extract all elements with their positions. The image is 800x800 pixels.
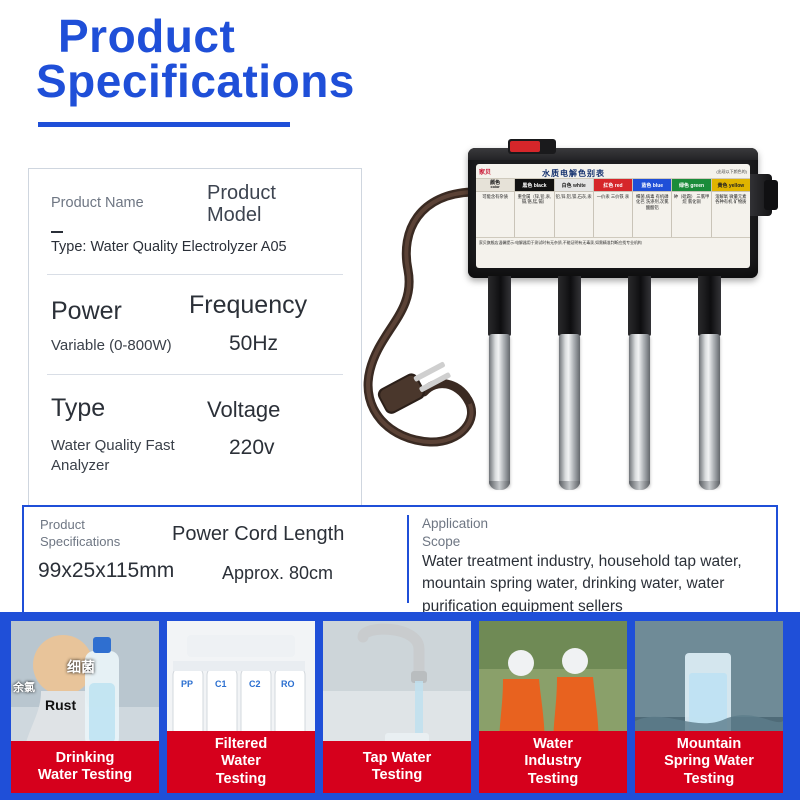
color-col-white: 白色 white 铅,锌,铝,镁,石灰,汞 — [555, 179, 594, 237]
caption-filtered-line1: Filtered — [215, 736, 267, 753]
caption-filtered-line2: Water — [215, 753, 267, 770]
page-title-line1: Product — [58, 14, 478, 59]
device-illustration: 家贝 水质电解色别表 (出现以下颜色的) 颜色 color 可能含有杂质 黑色 … — [360, 120, 790, 520]
color-col-red-header: 红色 red — [594, 179, 632, 192]
frequency-label: Frequency — [189, 291, 307, 320]
brand-label: 家贝 — [479, 167, 491, 176]
scenario-card-water-industry[interactable]: Water Industry Testing — [478, 620, 628, 794]
caption-drinking-line2: Water Testing — [38, 767, 132, 784]
power-label: Power — [51, 297, 122, 326]
type-description-line2: Analyzer — [51, 456, 191, 476]
probe-2-holder — [558, 276, 581, 336]
color-col-yellow-body: 溶解氧 微量元素 各种有机 矿物质 — [712, 192, 750, 207]
caption-tap-line2: Testing — [363, 767, 431, 784]
color-col-yellow-header: 黄色 yellow — [712, 179, 750, 192]
color-col-red: 红色 red 一价汞 三价铁 汞 — [594, 179, 633, 237]
power-cord-length-value: Approx. 80cm — [222, 563, 333, 584]
power-value: Variable (0-800W) — [51, 337, 172, 354]
scenario-caption-tap-water: Tap Water Testing — [323, 741, 471, 793]
probe-1-holder — [488, 276, 511, 336]
product-model-label-line1: Product — [207, 183, 276, 205]
specifications-card: Product Name Product Model Type: Water Q… — [28, 168, 362, 506]
scenario-caption-drinking-water: Drinking Water Testing — [11, 741, 159, 793]
product-spec-page: Product Specifications Product Name Prod… — [0, 0, 800, 800]
color-col-white-body: 铅,锌,铝,镁,石灰,汞 — [555, 192, 593, 201]
color-col-black-header: 黑色 black — [515, 179, 553, 192]
probe-4-holder — [698, 276, 721, 336]
voltage-label: Voltage — [207, 397, 280, 423]
usage-scenarios-strip: 细菌 Rust 余氯 Drinking Water Testing — [0, 612, 800, 800]
color-col-red-body: 一价汞 三价铁 汞 — [594, 192, 632, 201]
product-specifications-value: 99x25x115mm — [38, 559, 174, 583]
color-col-blue: 蓝色 blue 细菌,病毒 有机磷化巴 洗涤剂,次氯 酸酸铝 — [633, 179, 672, 237]
lower-card-divider — [407, 515, 409, 603]
probe-3-rod — [629, 334, 650, 486]
caption-tap-line1: Tap Water — [363, 750, 431, 767]
type-description-line1: Water Quality Fast — [51, 436, 191, 456]
color-col-green: 绿色 green 砷（砒霜） 三氯甲烷 氯化铜 — [672, 179, 711, 237]
color-table-col-header: 颜色 color 可能含有杂质 — [476, 179, 515, 237]
overlay-text-rust: Rust — [45, 697, 76, 713]
color-head-en: color — [490, 186, 499, 190]
voltage-value: 220v — [229, 436, 275, 460]
application-scope-label-line2: Scope — [422, 533, 488, 551]
product-model-label-line2: Model — [207, 205, 276, 227]
color-table: 颜色 color 可能含有杂质 黑色 black 重金属（锌,铅,汞,镉,铬,锰… — [476, 179, 750, 237]
overlay-text-bacteria: 细菌 — [67, 657, 95, 677]
color-column-head: 颜色 color — [476, 179, 514, 192]
spec-divider-2 — [47, 374, 343, 375]
page-title: Product Specifications — [58, 14, 478, 104]
application-scope-label-line1: Application — [422, 515, 488, 533]
type-label: Type — [51, 394, 105, 423]
color-col-green-body: 砷（砒霜） 三氯甲烷 氯化铜 — [672, 192, 710, 207]
overlay-text-ro: RO — [281, 679, 295, 689]
probe-2-rod — [559, 334, 580, 486]
probe-1-rod — [489, 334, 510, 486]
scenario-card-tap-water[interactable]: Tap Water Testing — [322, 620, 472, 794]
probe-3-holder — [628, 276, 651, 336]
frequency-value: 50Hz — [229, 332, 278, 356]
color-col-blue-header: 蓝色 blue — [633, 179, 671, 192]
device-label-panel: 家贝 水质电解色别表 (出现以下颜色的) 颜色 color 可能含有杂质 黑色 … — [476, 164, 750, 268]
scenario-card-drinking-water[interactable]: 细菌 Rust 余氯 Drinking Water Testing — [10, 620, 160, 794]
color-col-yellow: 黄色 yellow 溶解氧 微量元素 各种有机 矿物质 — [712, 179, 750, 237]
type-description: Water Quality Fast Analyzer — [51, 436, 191, 477]
title-underline — [38, 122, 290, 127]
panel-note: (出现以下颜色的) — [716, 169, 747, 175]
caption-mountain-line3: Testing — [664, 771, 754, 788]
product-name-label: Product Name — [51, 195, 144, 211]
power-switch-red-rocker[interactable] — [510, 141, 540, 152]
application-scope-value: Water treatment industry, household tap … — [422, 551, 774, 618]
overlay-text-c1: C1 — [215, 679, 227, 689]
color-col-black-body: 重金属（锌,铅,汞,镉,铬,锰,镉） — [515, 192, 553, 207]
caption-mountain-line2: Spring Water — [664, 753, 754, 770]
secondary-specifications-card: Product Specifications Power Cord Length… — [22, 505, 778, 614]
product-specifications-label: Product Specifications — [40, 517, 120, 551]
electrode-probe-3 — [628, 276, 651, 486]
color-col-black: 黑色 black 重金属（锌,铅,汞,镉,铬,锰,镉） — [515, 179, 554, 237]
device-body: 家贝 水质电解色别表 (出现以下颜色的) 颜色 color 可能含有杂质 黑色 … — [468, 148, 758, 278]
electrode-probe-1 — [488, 276, 511, 486]
type-bullet-dash — [51, 231, 63, 233]
spec-divider-1 — [47, 274, 343, 275]
scenario-caption-mountain-spring: Mountain Spring Water Testing — [635, 731, 783, 793]
color-col-green-header: 绿色 green — [672, 179, 710, 192]
caption-drinking-line1: Drinking — [38, 750, 132, 767]
probe-4-rod — [699, 334, 720, 486]
application-scope-label: Application Scope — [422, 515, 488, 550]
electrode-probe-4 — [698, 276, 721, 486]
color-left-body: 可能含有杂质 — [476, 192, 514, 201]
product-specifications-label-line1: Product — [40, 517, 120, 534]
scenario-card-filtered-water[interactable]: PP C1 C2 RO Filtered Water Testing — [166, 620, 316, 794]
scenario-caption-filtered-water: Filtered Water Testing — [167, 731, 315, 793]
product-type-value: Type: Water Quality Electrolyzer A05 — [51, 239, 287, 255]
power-switch[interactable] — [508, 139, 556, 154]
caption-industry-line1: Water — [524, 736, 581, 753]
electrode-probe-2 — [558, 276, 581, 486]
product-specifications-label-line2: Specifications — [40, 534, 120, 551]
caption-mountain-line1: Mountain — [664, 736, 754, 753]
panel-footer-note: 家贝旗舰店温馨提示:电解器用于测试时有无杂质,不能证明有无毒汞,如需精准判断应找… — [476, 237, 750, 247]
panel-title: 水质电解色别表 — [542, 168, 605, 179]
overlay-text-residual-chlorine: 余氯 — [13, 679, 35, 695]
caption-filtered-line3: Testing — [215, 771, 267, 788]
overlay-text-c2: C2 — [249, 679, 261, 689]
label-panel-header: 家贝 水质电解色别表 (出现以下颜色的) — [476, 164, 750, 179]
color-col-white-header: 白色 white — [555, 179, 593, 192]
product-model-label: Product Model — [207, 183, 276, 226]
page-title-line2: Specifications — [36, 59, 478, 104]
scenario-caption-water-industry: Water Industry Testing — [479, 731, 627, 793]
caption-industry-line2: Industry — [524, 753, 581, 770]
scenario-card-mountain-spring[interactable]: Mountain Spring Water Testing — [634, 620, 784, 794]
color-col-blue-body: 细菌,病毒 有机磷化巴 洗涤剂,次氯 酸酸铝 — [633, 192, 671, 212]
device-knob-cap — [764, 180, 778, 210]
caption-industry-line3: Testing — [524, 771, 581, 788]
overlay-text-pp: PP — [181, 679, 193, 689]
power-cord-length-label: Power Cord Length — [172, 523, 344, 546]
